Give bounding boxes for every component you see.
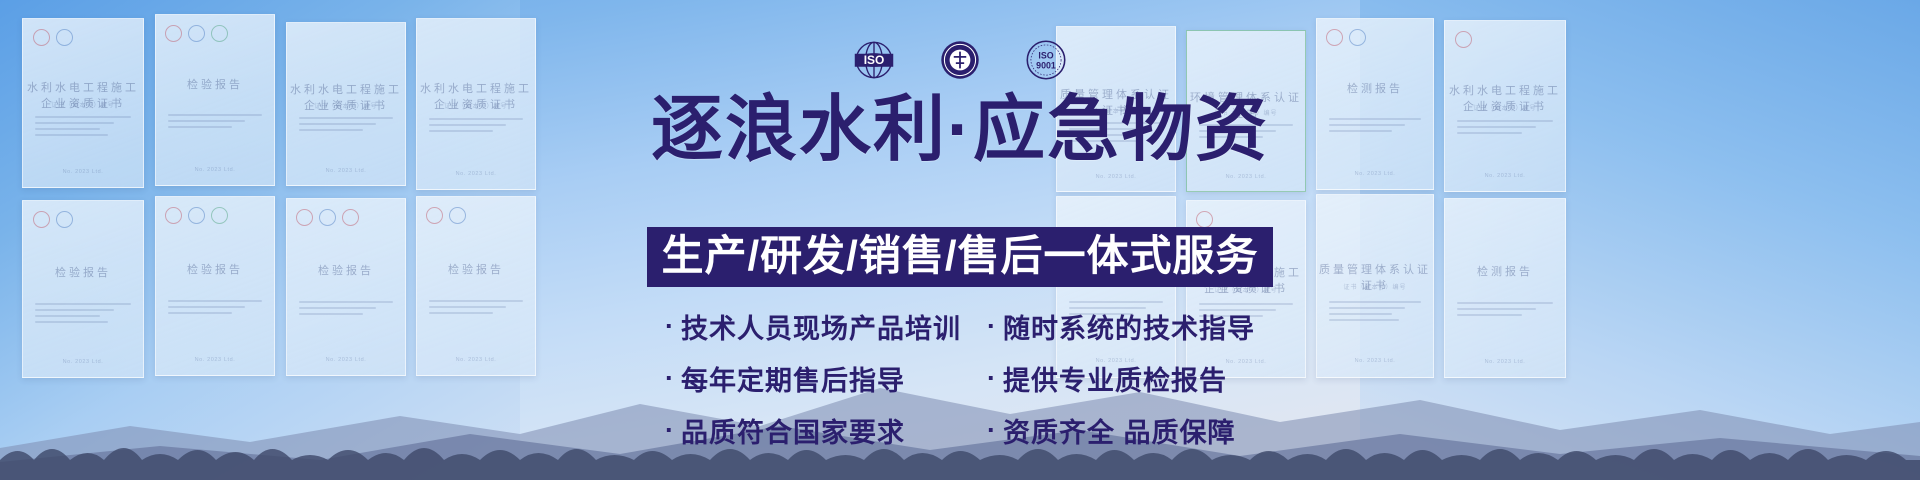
feature-label: 随时系统的技术指导 — [1003, 307, 1255, 346]
bullet-icon: · — [665, 313, 675, 340]
promo-banner: 水利水电工程施工企业资质证书 证书（副本号）编号 No. 2023 Ltd. 检… — [0, 0, 1920, 480]
bullet-icon: · — [665, 365, 675, 392]
certification-badge-row: ISO ISO 9001 — [848, 34, 1072, 86]
page-title: 逐浪水利·应急物资 — [651, 92, 1269, 168]
bullet-icon: · — [987, 313, 997, 340]
feature-item: · 提供专业质检报告 — [987, 359, 1255, 398]
iso-globe-badge-icon: ISO — [848, 34, 900, 86]
feature-item: · 品质符合国家要求 — [665, 411, 961, 450]
iso-9001-badge-icon: ISO 9001 — [1020, 34, 1072, 86]
svg-text:ISO: ISO — [1038, 50, 1053, 60]
feature-label: 品质符合国家要求 — [681, 411, 905, 450]
bullet-icon: · — [987, 365, 997, 392]
quality-seal-badge-icon — [934, 34, 986, 86]
bullet-icon: · — [987, 417, 997, 444]
feature-item: · 随时系统的技术指导 — [987, 307, 1255, 346]
svg-text:9001: 9001 — [1036, 60, 1056, 70]
feature-label: 技术人员现场产品培训 — [681, 307, 961, 346]
subtitle-bar: 生产/研发/销售/售后一体式服务 — [647, 227, 1272, 287]
feature-label: 每年定期售后指导 — [681, 359, 905, 398]
subtitle-text: 生产/研发/销售/售后一体式服务 — [661, 232, 1258, 279]
feature-item: · 每年定期售后指导 — [665, 359, 961, 398]
feature-item: · 资质齐全 品质保障 — [987, 411, 1255, 450]
feature-label: 提供专业质检报告 — [1003, 359, 1227, 398]
feature-list: · 技术人员现场产品培训 · 随时系统的技术指导 · 每年定期售后指导 · 提供… — [665, 307, 1255, 450]
feature-label: 资质齐全 品质保障 — [1003, 411, 1236, 450]
feature-item: · 技术人员现场产品培训 — [665, 307, 961, 346]
svg-text:ISO: ISO — [864, 53, 885, 67]
bullet-icon: · — [665, 417, 675, 444]
banner-content: ISO ISO 9001 逐浪水利·应急物资 生产/研发/销售/售后一体式服务 — [0, 0, 1920, 480]
